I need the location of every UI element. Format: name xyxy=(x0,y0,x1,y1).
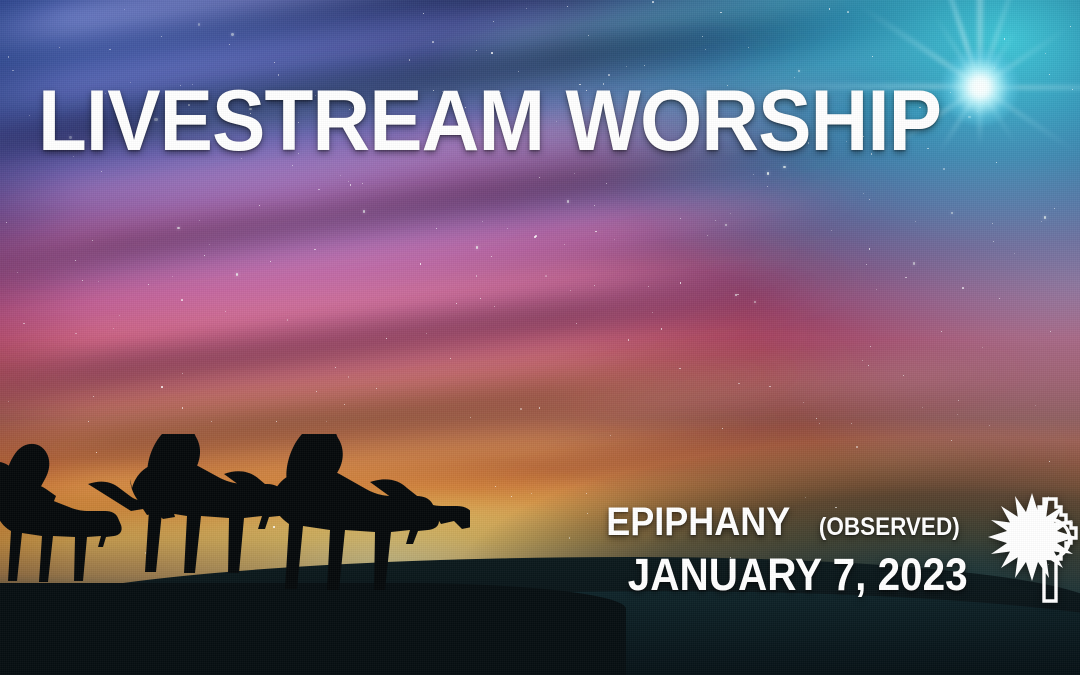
star-speck xyxy=(644,65,645,66)
star-speck xyxy=(915,221,916,222)
star-speck xyxy=(652,1,654,3)
cloud-streak xyxy=(0,246,869,419)
cloud-streak xyxy=(496,433,1057,506)
star-speck xyxy=(992,223,993,224)
star-speck xyxy=(75,333,77,335)
star-speck xyxy=(209,244,210,245)
star-speck xyxy=(679,368,681,370)
star-speck xyxy=(236,273,238,275)
star-speck xyxy=(348,181,349,182)
star-speck xyxy=(8,401,9,402)
star-speck xyxy=(876,289,877,290)
star-speck xyxy=(720,12,722,14)
cloud-streak xyxy=(0,0,689,66)
star-speck xyxy=(29,115,30,116)
star-speck xyxy=(567,200,569,202)
star-speck xyxy=(595,231,597,233)
star-speck xyxy=(1014,253,1016,255)
star-speck xyxy=(101,171,102,172)
star-speck xyxy=(350,184,352,186)
livestream-worship-graphic: LIVESTREAM WORSHIP EPIPHANY (OBSERVED) J… xyxy=(0,0,1080,675)
star-speck xyxy=(75,260,76,261)
star-speck xyxy=(470,417,471,418)
star-speck xyxy=(989,425,990,426)
star-speck xyxy=(376,388,377,389)
star-speck xyxy=(480,298,481,299)
star-speck xyxy=(98,281,100,283)
star-speck xyxy=(993,241,994,242)
star-speck xyxy=(614,239,615,240)
star-speck xyxy=(831,230,832,231)
star-speck xyxy=(270,261,271,262)
star-speck xyxy=(803,402,804,403)
star-speck xyxy=(851,423,852,424)
star-speck xyxy=(587,513,588,514)
star-speck xyxy=(735,294,737,296)
star-speck xyxy=(363,210,365,212)
star-speck xyxy=(738,383,740,385)
star-speck xyxy=(753,174,754,175)
star-speck xyxy=(274,62,275,63)
event-qualifier: (OBSERVED) xyxy=(819,515,960,540)
star-speck xyxy=(82,280,83,281)
star-speck xyxy=(423,13,424,14)
star-speck xyxy=(705,49,707,51)
star-speck xyxy=(856,446,858,448)
star-speck xyxy=(913,262,915,264)
star-speck xyxy=(436,228,437,229)
star-speck xyxy=(748,47,749,48)
star-speck xyxy=(482,221,484,223)
star-speck xyxy=(340,175,341,176)
star-speck xyxy=(511,496,512,497)
star-speck xyxy=(59,47,61,49)
star-speck xyxy=(88,421,89,422)
star-speck xyxy=(493,21,494,22)
star-speck xyxy=(868,365,869,366)
star-speck xyxy=(570,290,571,291)
cloud-shadow-band xyxy=(0,264,849,412)
star-speck xyxy=(943,168,945,170)
star-speck xyxy=(715,220,716,221)
star-speck xyxy=(816,418,817,419)
star-speck xyxy=(767,186,768,187)
star-speck xyxy=(869,199,870,200)
star-speck xyxy=(569,537,571,539)
event-date: JANUARY 7, 2023 xyxy=(628,551,968,599)
star-speck xyxy=(606,183,607,184)
star-speck xyxy=(409,59,411,61)
star-speck xyxy=(8,56,10,58)
star-speck xyxy=(450,358,452,360)
star-speck xyxy=(172,276,173,277)
star-speck xyxy=(109,49,111,51)
star-speck xyxy=(957,414,958,415)
star-speck xyxy=(903,375,905,377)
star-speck xyxy=(648,286,649,287)
star-speck xyxy=(229,44,230,45)
sunburst-cross-logo xyxy=(992,485,1080,603)
star-speck xyxy=(259,205,260,206)
star-speck xyxy=(847,11,849,13)
camel-3 xyxy=(269,434,470,590)
star-speck xyxy=(1044,216,1046,218)
star-speck xyxy=(594,205,595,206)
star-speck xyxy=(819,423,820,424)
star-speck xyxy=(610,435,611,436)
star-speck xyxy=(941,331,942,332)
star-speck xyxy=(426,333,427,334)
star-speck xyxy=(576,323,577,324)
star-speck xyxy=(737,294,739,296)
star-speck xyxy=(92,240,93,241)
star-speck xyxy=(494,306,496,308)
star-speck xyxy=(199,220,200,221)
star-speck xyxy=(1054,208,1055,209)
star-speck xyxy=(518,71,519,72)
cloud-streak xyxy=(0,168,888,354)
star-speck xyxy=(362,183,363,184)
star-speck xyxy=(326,421,327,422)
star-speck xyxy=(17,272,18,273)
star-speck xyxy=(588,35,589,36)
star-speck xyxy=(211,421,212,422)
star-speck xyxy=(177,227,179,229)
star-speck xyxy=(680,218,681,219)
star-speck xyxy=(182,373,183,374)
star-core xyxy=(941,48,1019,126)
star-speck xyxy=(798,70,800,72)
cloud-streak xyxy=(0,155,832,304)
star-speck xyxy=(680,282,682,284)
star-speck xyxy=(545,275,547,277)
star-speck xyxy=(722,428,723,429)
star-speck xyxy=(181,299,183,301)
star-speck xyxy=(730,213,731,214)
star-speck xyxy=(586,493,587,494)
star-speck xyxy=(12,70,14,72)
star-speck xyxy=(866,264,867,265)
star-speck xyxy=(476,246,478,248)
star-speck xyxy=(805,497,806,498)
star-speck xyxy=(520,408,522,410)
star-speck xyxy=(564,244,565,245)
star-speck xyxy=(335,367,336,368)
star-speck xyxy=(287,319,289,321)
star-speck xyxy=(491,52,493,54)
star-speck xyxy=(476,275,478,277)
star-speck xyxy=(531,493,532,494)
star-speck xyxy=(316,391,317,392)
star-speck xyxy=(951,440,952,441)
star-speck xyxy=(829,8,831,10)
star-speck xyxy=(539,407,541,409)
star-speck xyxy=(951,212,953,214)
star-speck xyxy=(958,400,959,401)
star-speck xyxy=(161,386,163,388)
star-speck xyxy=(198,23,200,25)
star-speck xyxy=(725,224,727,226)
star-speck xyxy=(526,8,528,10)
star-speck xyxy=(754,301,756,303)
star-speck xyxy=(999,298,1000,299)
star-speck xyxy=(420,263,422,265)
star-speck xyxy=(1050,331,1051,332)
star-speck xyxy=(93,396,94,397)
star-speck xyxy=(702,36,703,37)
star-speck xyxy=(476,50,478,52)
star-speck xyxy=(161,36,162,37)
star-speck xyxy=(661,328,663,330)
star-speck xyxy=(922,407,923,408)
star-speck xyxy=(119,315,120,316)
star-speck xyxy=(23,323,25,325)
star-speck xyxy=(124,9,125,10)
star-speck xyxy=(905,277,907,279)
cloud-streak xyxy=(0,306,812,445)
event-details: EPIPHANY (OBSERVED) JANUARY 7, 2023 xyxy=(590,502,968,599)
star-speck xyxy=(982,347,983,348)
page-title: LIVESTREAM WORSHIP xyxy=(38,78,941,164)
star-speck xyxy=(567,6,568,7)
star-speck xyxy=(318,189,320,191)
star-speck xyxy=(231,33,233,35)
event-name-line: EPIPHANY (OBSERVED) xyxy=(590,502,968,542)
star-speck xyxy=(626,66,627,67)
star-speck xyxy=(348,376,350,378)
star-speck xyxy=(491,256,492,257)
star-speck xyxy=(769,386,771,388)
star-speck xyxy=(344,404,346,406)
star-speck xyxy=(386,338,388,340)
star-speck xyxy=(872,56,873,57)
cloud-streak xyxy=(0,228,831,373)
star-speck xyxy=(314,249,316,251)
star-speck xyxy=(6,222,8,224)
star-speck xyxy=(148,284,149,285)
star-speck xyxy=(539,177,540,178)
star-speck xyxy=(628,339,630,341)
cloud-streak xyxy=(408,0,965,77)
event-name: EPIPHANY xyxy=(606,502,790,542)
star-speck xyxy=(594,285,596,287)
star-speck xyxy=(1041,221,1042,222)
star-speck xyxy=(495,486,496,487)
star-speck xyxy=(113,328,114,329)
star-speck xyxy=(707,235,708,236)
star-speck xyxy=(534,236,536,238)
star-speck xyxy=(652,312,653,313)
star-speck xyxy=(535,235,537,237)
star-speck xyxy=(767,172,769,174)
star-speck xyxy=(870,346,871,347)
magi-camel-caravan-silhouette xyxy=(0,434,470,609)
star-speck xyxy=(574,173,575,174)
star-speck xyxy=(225,311,226,312)
star-speck xyxy=(863,193,865,195)
star-speck xyxy=(862,360,864,362)
star-speck xyxy=(869,248,871,250)
star-speck xyxy=(456,303,457,304)
star-speck xyxy=(1035,405,1036,406)
star-speck xyxy=(1049,461,1050,462)
star-speck xyxy=(182,407,184,409)
star-speck xyxy=(507,228,508,229)
star-speck xyxy=(432,41,434,43)
star-speck xyxy=(276,421,277,422)
star-speck xyxy=(962,287,964,289)
cloud-streak xyxy=(560,350,1041,422)
star-speck xyxy=(204,255,205,256)
